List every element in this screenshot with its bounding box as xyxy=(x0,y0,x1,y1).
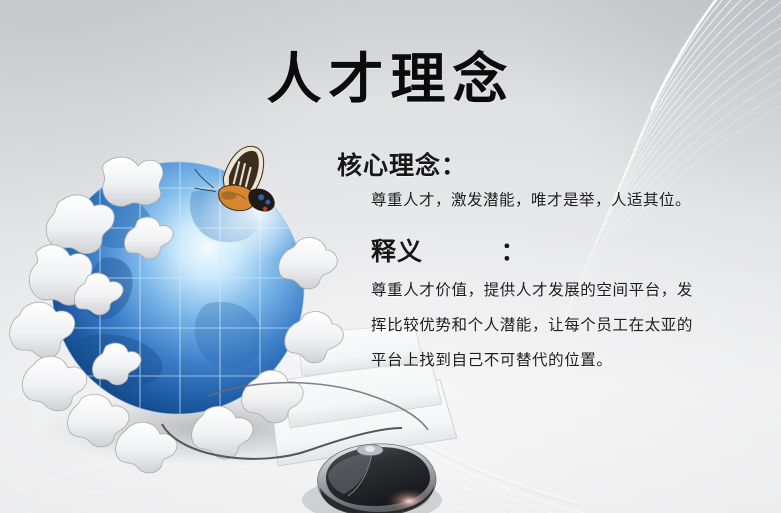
slide-canvas: 人才理念 xyxy=(0,0,781,513)
explanation-line-2: 挥比较优势和个人潜能，让每个员工在太亚的 xyxy=(371,308,773,343)
explanation-colon: ： xyxy=(501,237,527,266)
explanation-heading: 释义 ： xyxy=(337,238,773,267)
section-core-concept: 核心理念： 尊重人才，激发潜能，唯才是举，人适其位。 xyxy=(337,152,773,212)
explanation-line-1: 尊重人才价值，提供人才发展的空间平台，发 xyxy=(371,273,773,308)
explanation-line-3: 平台上找到自己不可替代的位置。 xyxy=(371,343,773,378)
core-concept-heading-text: 核心理念 xyxy=(337,151,441,180)
explanation-heading-text: 释义 xyxy=(371,237,423,266)
slide-title: 人才理念 xyxy=(0,34,781,114)
core-concept-colon: ： xyxy=(441,151,467,180)
core-concept-heading: 核心理念： xyxy=(337,152,773,181)
text-content: 核心理念： 尊重人才，激发潜能，唯才是举，人适其位。 释义 ： 尊重人才价值，提… xyxy=(337,152,773,392)
section-explanation: 释义 ： 尊重人才价值，提供人才发展的空间平台，发 挥比较优势和个人潜能，让每个… xyxy=(337,238,773,378)
core-concept-body: 尊重人才，激发潜能，唯才是举，人适其位。 xyxy=(337,189,773,212)
explanation-body: 尊重人才价值，提供人才发展的空间平台，发 挥比较优势和个人潜能，让每个员工在太亚… xyxy=(337,273,773,378)
explanation-heading-spacer xyxy=(423,237,501,266)
